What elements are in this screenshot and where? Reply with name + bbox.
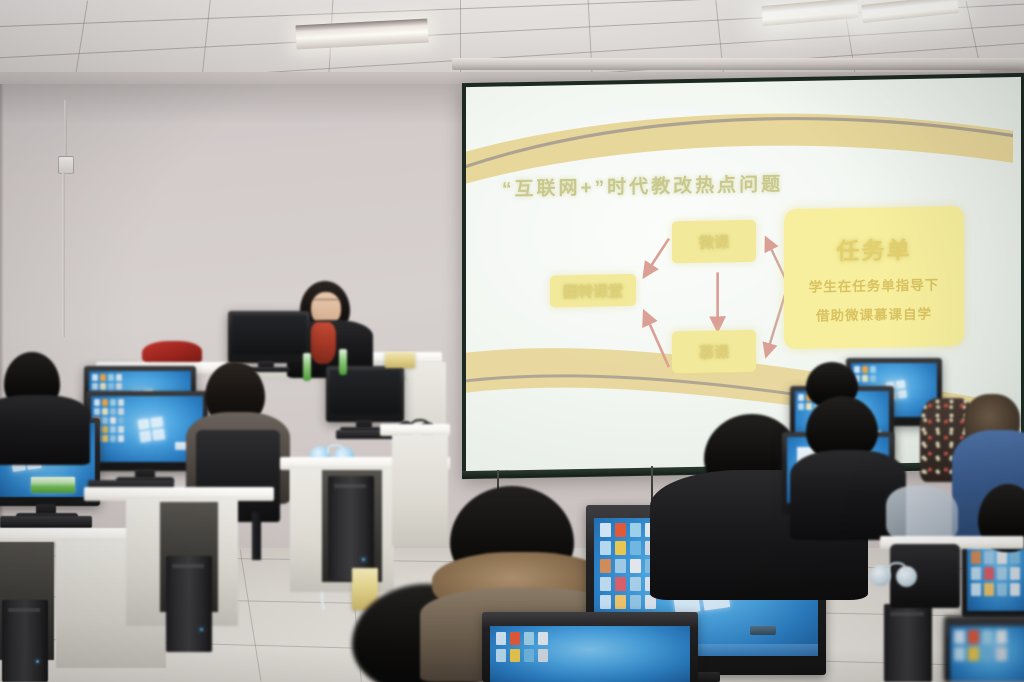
monitor-right-corner (944, 616, 1024, 682)
task-panel-line-1: 学生在任务单指导下 (809, 273, 940, 295)
pc-tower-right (884, 604, 932, 682)
keyboard-front-left (0, 516, 92, 528)
chair-left-post (252, 512, 261, 560)
desk-back-right-side (392, 434, 448, 546)
projector-screen-roller (452, 58, 1024, 70)
monitor-screen-right-corner (950, 626, 1024, 682)
wall-cable (62, 172, 65, 337)
classroom-photo: “互联网+”时代教改热点问题 翻转课堂 微课 (0, 0, 1024, 682)
slide-task-panel: 任务单 学生在任务单指导下 借助微课慕课自学 (784, 206, 964, 349)
ceiling-light-left (295, 19, 428, 50)
plastic-bag-right (886, 486, 958, 542)
pc-tower-front-left (2, 600, 48, 682)
ceiling-light-right-b (861, 0, 958, 23)
pc-tower-mid-right (328, 476, 374, 580)
instructor-glasses (312, 299, 339, 305)
slide-node-mooc: 慕课 (672, 330, 756, 374)
water-bottle-1 (303, 353, 311, 381)
ceiling-light-right-a (761, 0, 858, 26)
pc-tower-mid-left (166, 556, 212, 652)
student-body-left-1 (0, 395, 90, 465)
monitor-screen-foreground-bottom (490, 626, 690, 682)
wall-conduit (64, 100, 67, 158)
podium-monitor-left (228, 311, 310, 363)
instructor-scarf (310, 322, 336, 364)
headphones-foreground (870, 562, 920, 588)
slide-node-flipped-classroom: 翻转课堂 (550, 274, 636, 308)
task-panel-line-2: 借助微课慕课自学 (816, 303, 932, 325)
monitor-foreground-bottom (482, 612, 698, 682)
desktop-notification-green (31, 477, 75, 493)
podium-monitor-right (326, 366, 404, 422)
ceiling (0, 0, 1024, 86)
water-bottle-2 (339, 349, 347, 375)
slide-node-micro-lecture: 微课 (672, 220, 756, 264)
podium-box (385, 352, 415, 368)
task-panel-title: 任务单 (837, 231, 912, 266)
wall-junction-box-icon (58, 156, 74, 174)
